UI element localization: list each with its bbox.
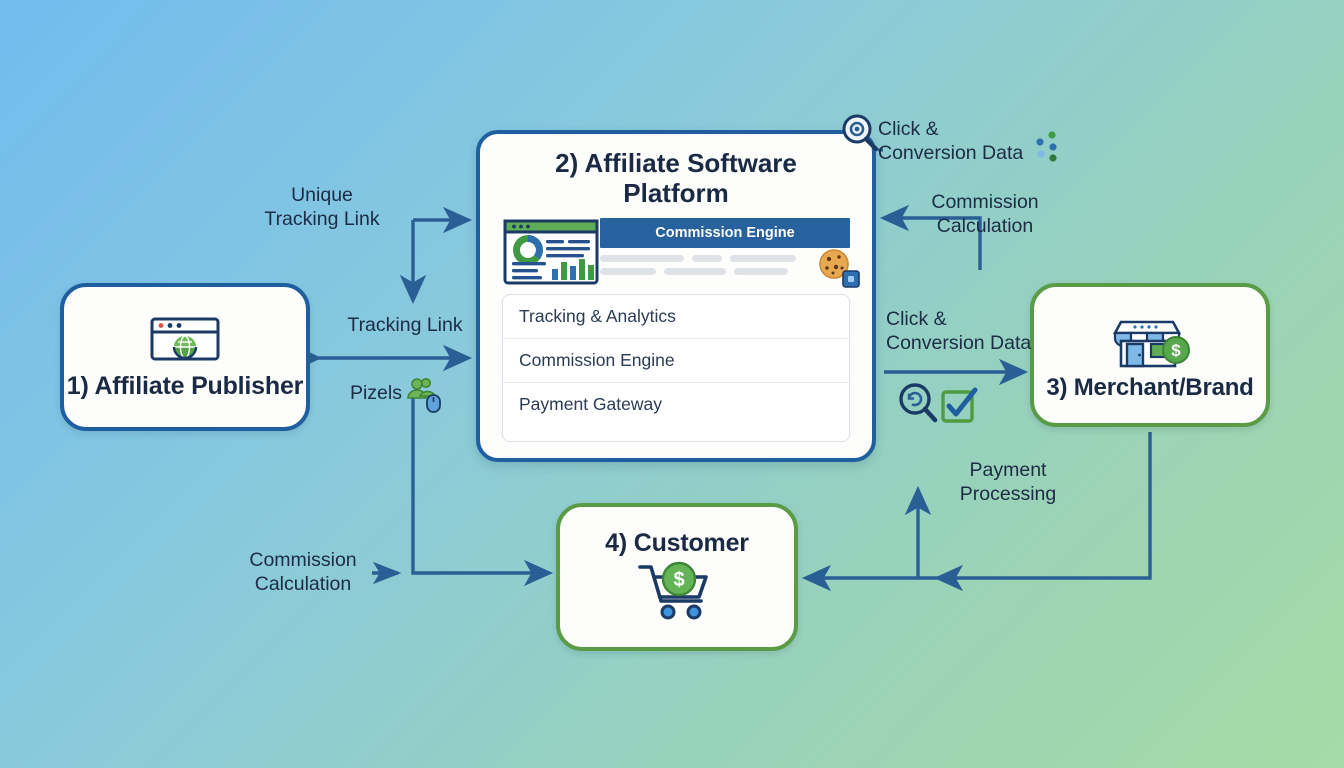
- shopping-cart-dollar-icon: $: [634, 559, 720, 626]
- label-tracking-link: Tracking Link: [330, 313, 480, 337]
- verification-icons: [896, 380, 982, 433]
- label-commission-calculation-right: Commission Calculation: [900, 190, 1070, 238]
- platform-title: 2) Affiliate Software Platform: [502, 148, 850, 208]
- cookie-tracking-icon: [818, 248, 862, 295]
- label-unique-tracking-link: Unique Tracking Link: [232, 183, 412, 231]
- platform-banner-row: Commission Engine: [502, 218, 850, 284]
- svg-text:$: $: [673, 569, 684, 591]
- dashboard-analytics-icon: [502, 218, 600, 284]
- svg-text:$: $: [1171, 341, 1181, 360]
- storefront-dollar-icon: $: [1105, 308, 1195, 375]
- node-affiliate-publisher[interactable]: 1) Affiliate Publisher: [60, 283, 310, 431]
- magnifier-refresh-icon: [901, 385, 935, 420]
- banner-skeleton-rows: [600, 248, 850, 275]
- checkbox-check-icon: [943, 390, 975, 421]
- feature-item[interactable]: Commission Engine: [503, 339, 849, 383]
- node-customer[interactable]: 4) Customer $: [556, 503, 798, 651]
- feature-item[interactable]: Tracking & Analytics: [503, 295, 849, 339]
- magnifier-target-icon: [840, 113, 882, 160]
- node-merchant-brand[interactable]: $ 3) Merchant/Brand: [1030, 283, 1270, 427]
- feature-item[interactable]: Payment Gateway: [503, 383, 849, 426]
- people-mouse-pixel-icon: [405, 376, 445, 419]
- platform-feature-list: Tracking & Analytics Commission Engine P…: [502, 294, 850, 442]
- label-pizels: Pizels: [322, 381, 402, 405]
- commission-engine-banner: Commission Engine: [600, 218, 850, 248]
- node-affiliate-software-platform[interactable]: 2) Affiliate Software Platform: [476, 130, 876, 462]
- label-click-conversion-data-middle: Click & Conversion Data: [886, 307, 1046, 355]
- data-dots-icon: [1032, 130, 1062, 169]
- diagram-canvas: 1) Affiliate Publisher 2) Affiliate Soft…: [0, 0, 1344, 768]
- node-title-customer: 4) Customer: [605, 529, 749, 557]
- browser-globe-icon: [148, 315, 222, 370]
- label-commission-calculation-bottom: Commission Calculation: [222, 548, 384, 596]
- node-title-publisher: 1) Affiliate Publisher: [67, 372, 303, 400]
- label-payment-processing: Payment Processing: [938, 458, 1078, 506]
- node-title-merchant: 3) Merchant/Brand: [1046, 375, 1253, 402]
